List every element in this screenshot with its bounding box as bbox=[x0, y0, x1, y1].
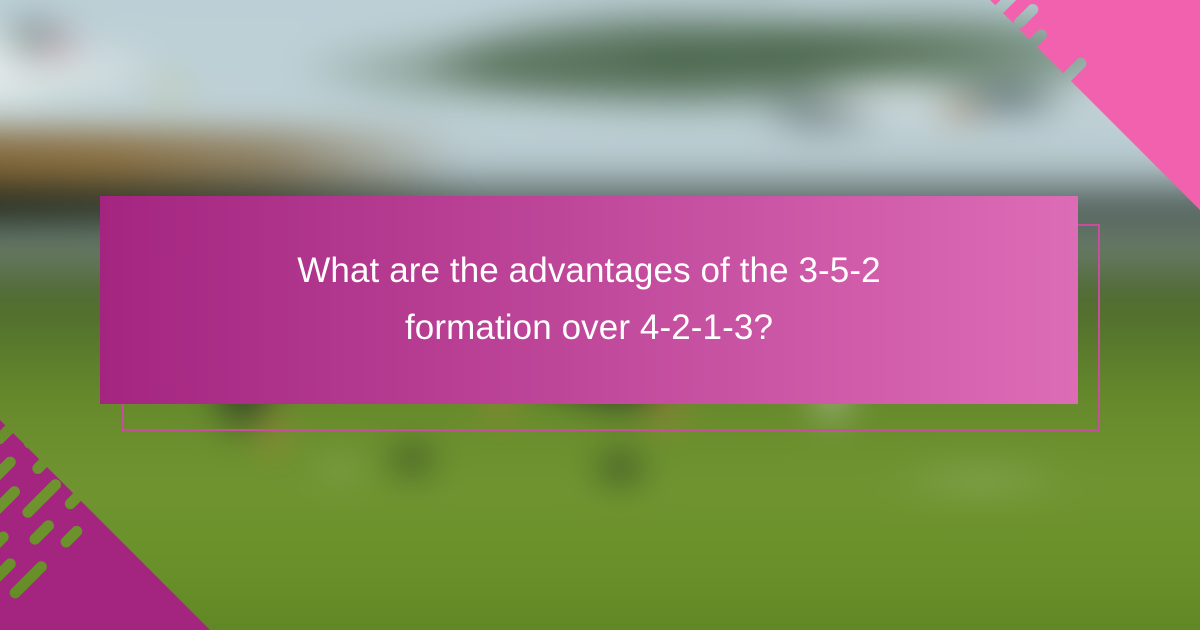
headline-card: What are the advantages of the 3-5-2 for… bbox=[100, 196, 1078, 404]
share-card-canvas: What are the advantages of the 3-5-2 for… bbox=[0, 0, 1200, 630]
page-title: What are the advantages of the 3-5-2 for… bbox=[259, 243, 919, 356]
